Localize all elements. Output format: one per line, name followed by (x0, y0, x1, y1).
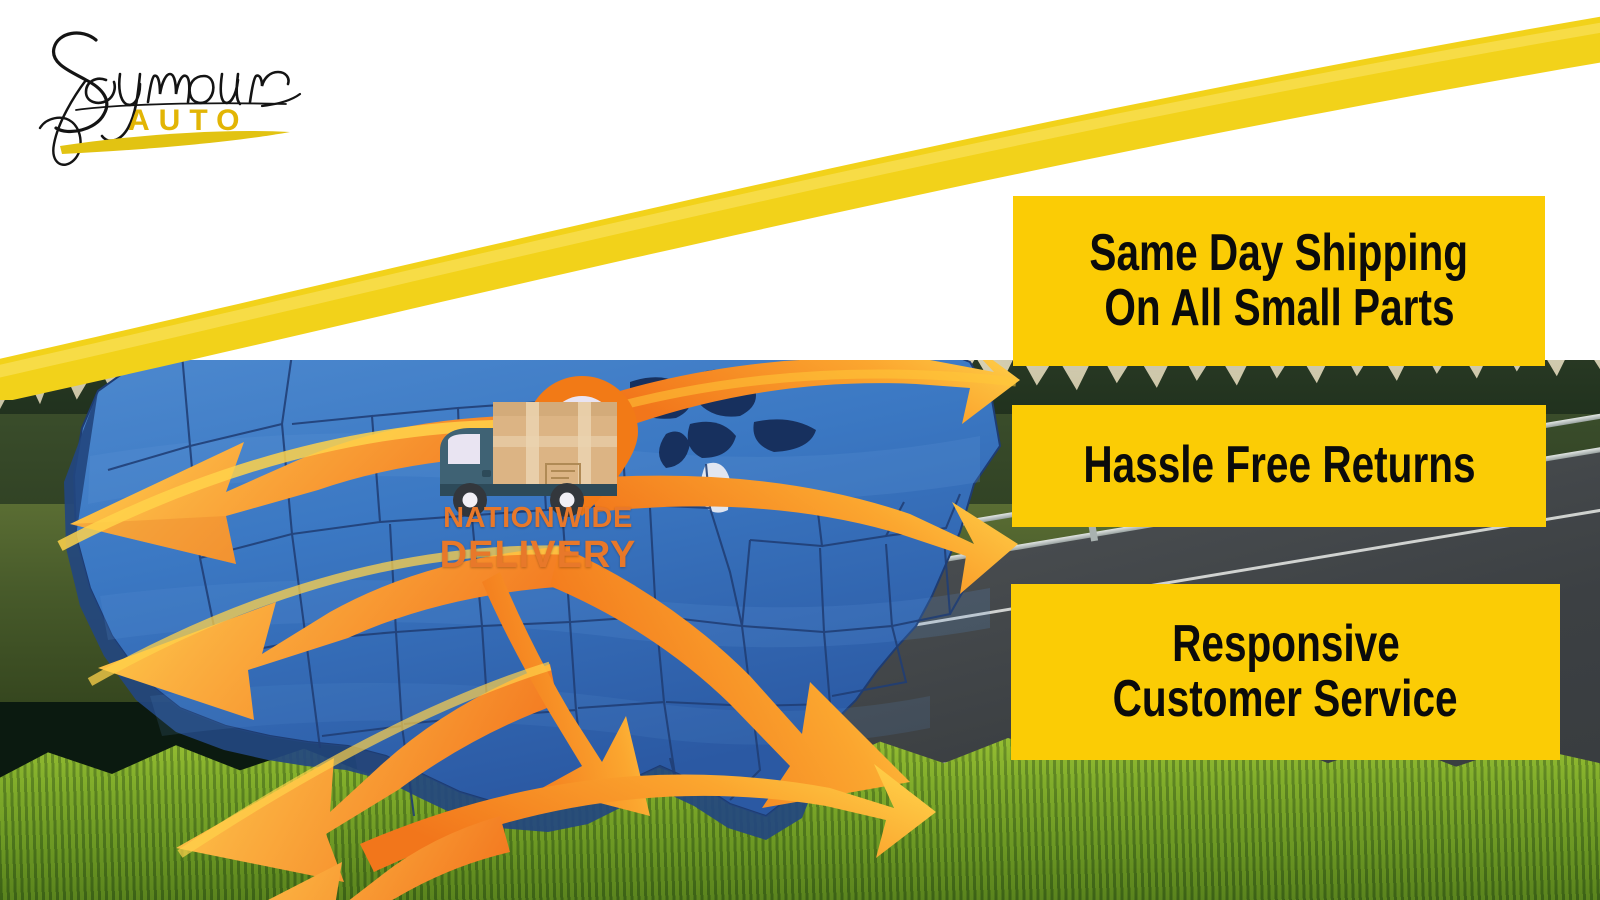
feature-3-line-2: Customer Service (1113, 672, 1458, 727)
promo-banner: NATIONWIDE DELIVERY (0, 0, 1600, 900)
seymour-auto-logo[interactable]: AUTO (24, 18, 344, 178)
feature-3-line-1: Responsive (1172, 617, 1400, 672)
feature-box-same-day-shipping[interactable]: Same Day Shipping On All Small Parts (1013, 196, 1545, 366)
nationwide-delivery-label: NATIONWIDE DELIVERY (428, 504, 648, 574)
feature-box-responsive-customer-service[interactable]: Responsive Customer Service (1011, 584, 1560, 760)
feature-box-hassle-free-returns[interactable]: Hassle Free Returns (1012, 405, 1546, 527)
nationwide-label-line2: DELIVERY (428, 536, 648, 574)
cardboard-box-icon (493, 402, 617, 492)
feature-1-line-1: Same Day Shipping (1090, 226, 1469, 281)
nationwide-label-line1: NATIONWIDE (428, 504, 648, 533)
feature-1-line-2: On All Small Parts (1104, 281, 1454, 336)
feature-2-line-1: Hassle Free Returns (1083, 438, 1475, 493)
logo-yellow-swoosh (60, 131, 290, 154)
